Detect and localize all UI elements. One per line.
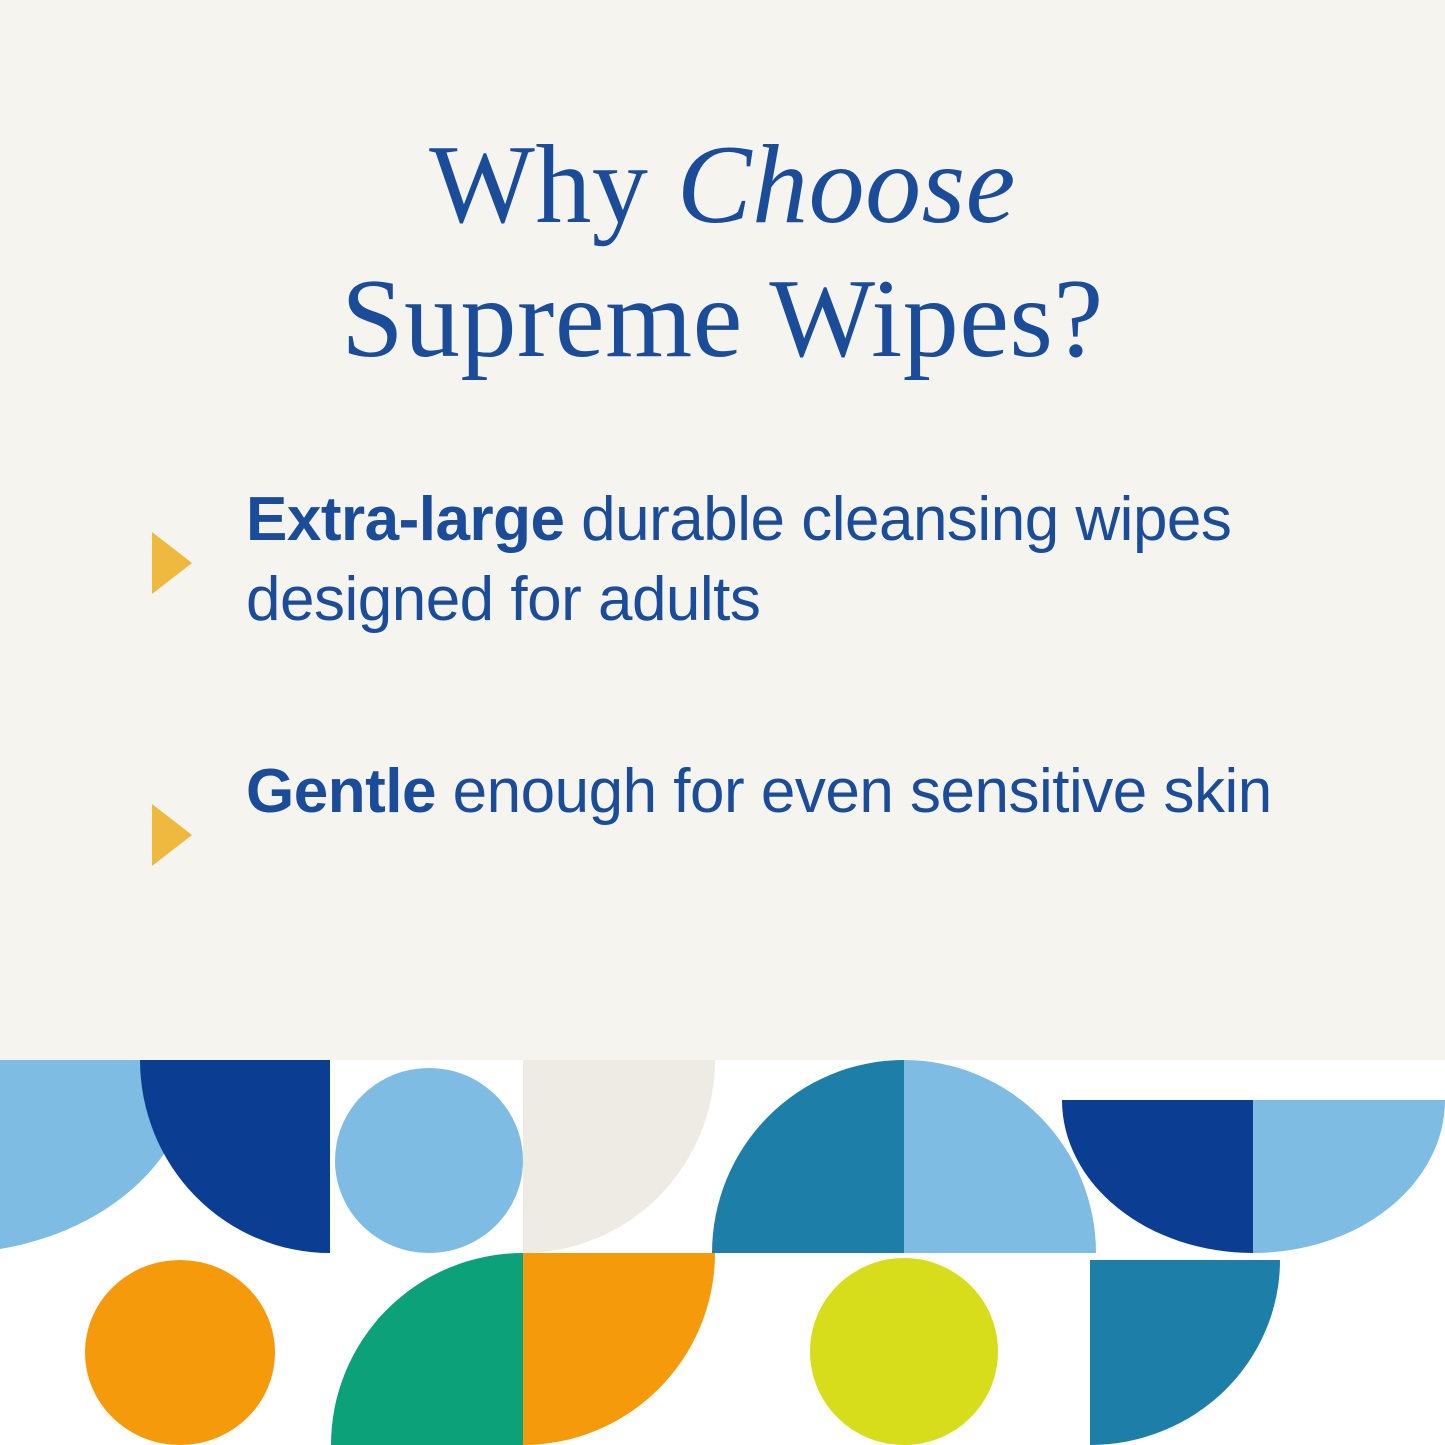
benefit-text: Gentle enough for even sensitive skin — [246, 752, 1358, 832]
list-item: Extra-large durable cleansing wipes desi… — [148, 480, 1358, 640]
lime-circle — [810, 1258, 998, 1445]
page-title: Why Choose Supreme Wipes? — [0, 118, 1445, 386]
benefit-text: Extra-large durable cleansing wipes desi… — [246, 480, 1358, 640]
benefit-lead: Gentle — [246, 757, 436, 826]
headline-line1-prefix: Why — [429, 123, 677, 247]
green-quarter-circle — [331, 1253, 523, 1445]
promo-poster: Why Choose Supreme Wipes? Extra-large du… — [0, 0, 1445, 1445]
benefit-lead: Extra-large — [246, 485, 564, 554]
triangle-right-icon — [148, 532, 196, 594]
benefits-list: Extra-large durable cleansing wipes desi… — [148, 480, 1358, 866]
headline-line2: Supreme Wipes? — [0, 252, 1445, 386]
light-blue-half-circle-right — [1253, 1100, 1445, 1253]
headline-emphasis: Choose — [677, 123, 1016, 247]
orange-quarter-circle — [523, 1253, 715, 1445]
beige-quarter-circle — [523, 1060, 715, 1253]
teal-quarter-circle — [1090, 1260, 1280, 1445]
navy-quarter-circle — [140, 1060, 330, 1253]
teal-half-circle-left — [712, 1060, 904, 1253]
list-item: Gentle enough for even sensitive skin — [148, 752, 1358, 866]
triangle-right-icon — [148, 804, 196, 866]
orange-circle — [85, 1260, 275, 1445]
light-blue-circle — [335, 1068, 523, 1253]
light-blue-half-circle-right — [904, 1060, 1096, 1253]
content-panel: Why Choose Supreme Wipes? Extra-large du… — [0, 0, 1445, 1062]
decorative-pattern-band — [0, 1060, 1445, 1445]
benefit-rest: enough for even sensitive skin — [436, 757, 1272, 826]
